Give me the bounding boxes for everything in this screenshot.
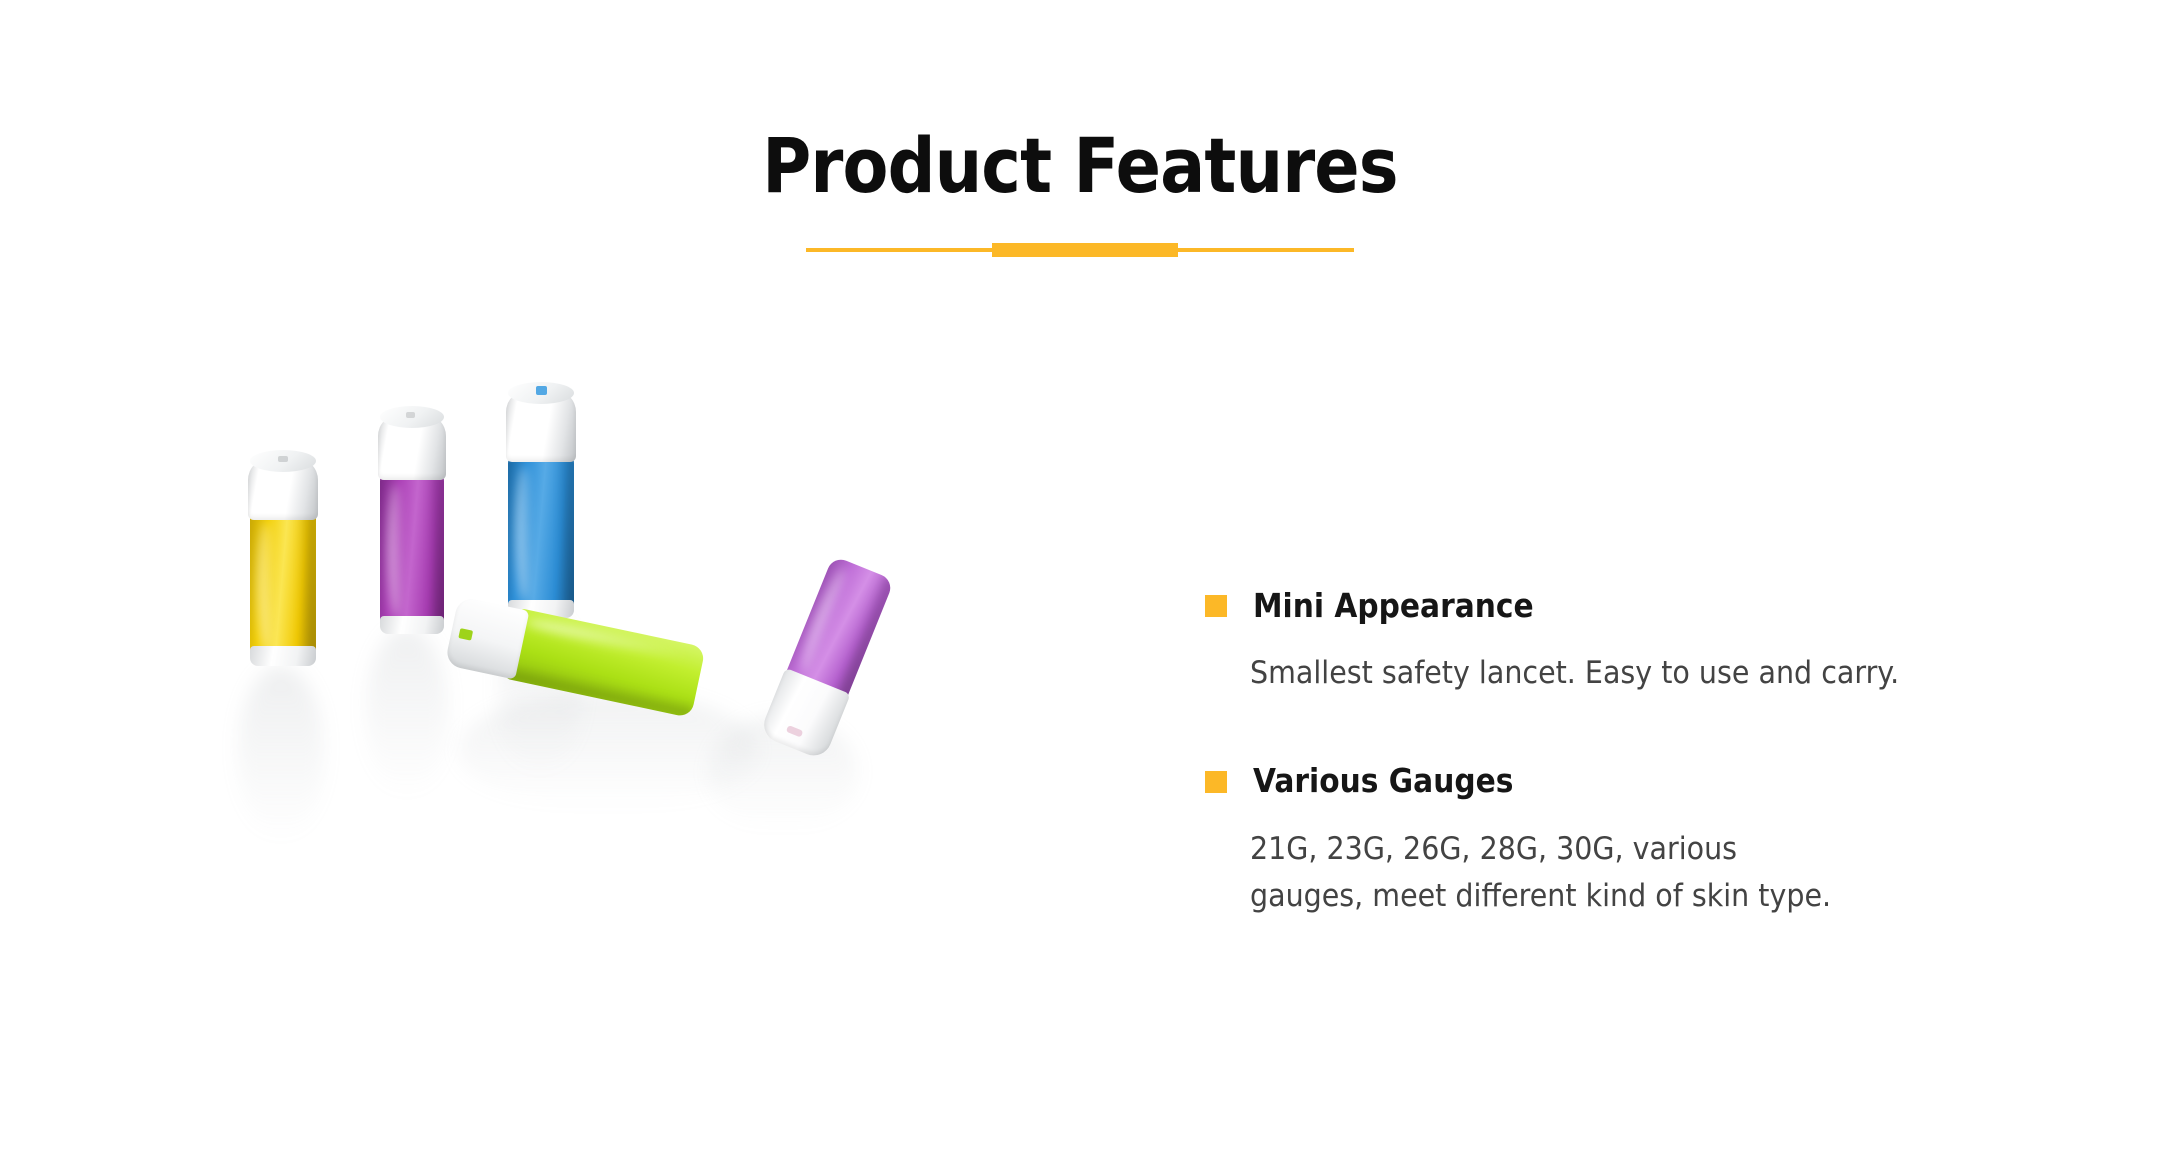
feature-desc-line: gauges, meet different kind of skin type… [1250, 873, 2000, 920]
blue-lancet-cap-marking [536, 386, 547, 395]
feature-desc-mini-appearance: Smallest safety lancet. Easy to use and … [1250, 650, 2000, 697]
feature-title-various-gauges: Various Gauges [1253, 763, 1513, 799]
feature-desc-line: 21G, 23G, 26G, 28G, 30G, various [1250, 826, 2000, 873]
purple-lancet-cap-marking [406, 412, 415, 418]
title-underline [806, 243, 1354, 257]
feature-desc-line: Smallest safety lancet. Easy to use and … [1250, 650, 2000, 697]
safety-lancets-photo [230, 480, 1130, 1040]
yellow-lancet-shade [298, 512, 316, 660]
feature-desc-various-gauges: 21G, 23G, 26G, 28G, 30G, various gauges,… [1250, 826, 2000, 920]
reflection-yellow [238, 666, 324, 842]
title-block: Product Features [0, 128, 2160, 204]
blue-lancet-gloss [516, 466, 532, 600]
feature-list: Mini Appearance Smallest safety lancet. … [1205, 588, 2065, 920]
bullet-square-icon [1205, 595, 1227, 617]
bullet-square-icon [1205, 771, 1227, 793]
purple-lancet-gloss [388, 484, 403, 616]
purple-lancet-shade [428, 474, 444, 630]
feature-head-various-gauges: Various Gauges [1205, 763, 2065, 799]
feature-head-mini-appearance: Mini Appearance [1205, 588, 2065, 624]
slide-root: Product Features [0, 0, 2160, 1161]
feature-item-mini-appearance: Mini Appearance Smallest safety lancet. … [1205, 588, 2065, 697]
feature-spacer [1205, 697, 2065, 763]
blue-lancet-shade [558, 456, 574, 614]
yellow-lancet-standing [244, 440, 324, 670]
purple-lancet-lying [743, 548, 914, 788]
yellow-lancet-gloss [258, 522, 274, 650]
page-title: Product Features [130, 128, 2031, 204]
feature-item-various-gauges: Various Gauges 21G, 23G, 26G, 28G, 30G, … [1205, 763, 2065, 920]
divider-center-bar [992, 243, 1178, 257]
green-lancet-cap [444, 596, 529, 679]
purple-lancet-standing [374, 394, 452, 630]
purple-lancet-foot [380, 616, 444, 634]
yellow-lancet-cap-marking [278, 456, 288, 462]
yellow-lancet-foot [250, 646, 316, 666]
green-lancet-shade [503, 660, 695, 718]
feature-title-mini-appearance: Mini Appearance [1253, 588, 1534, 624]
blue-lancet-standing [502, 370, 582, 618]
